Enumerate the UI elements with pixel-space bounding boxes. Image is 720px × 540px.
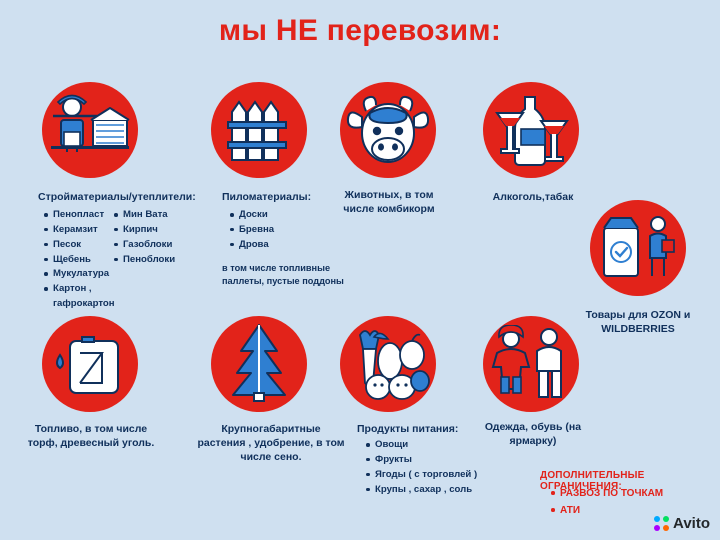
icon-circle-building-materials — [42, 82, 138, 178]
icon-circle-food — [340, 316, 436, 412]
icon-circle-plants — [211, 316, 307, 412]
list-item: Мин Вата — [112, 208, 202, 223]
list-item: Кирпич — [112, 223, 202, 238]
list-item: Фрукты — [364, 453, 514, 468]
icon-circle-clothes — [483, 316, 579, 412]
caption-plants: Крупногабаритные растения , удобрение, в… — [196, 422, 346, 465]
page-title: мы НЕ перевозим: — [0, 14, 720, 48]
icon-circle-animals — [340, 82, 436, 178]
list-item: Ягоды ( с торговлей ) — [364, 468, 514, 483]
icon-circle-lumber — [211, 82, 307, 178]
list-item: Картон , гафрокартон — [42, 282, 137, 312]
icon-circle-fuel — [42, 316, 138, 412]
list-building-materials-right: Мин Вата Кирпич Газоблоки Пеноблоки — [112, 208, 202, 267]
caption-building-materials: Стройматериалы/утеплители: — [38, 190, 218, 204]
caption-fuel: Топливо, в том числе торф, древесный уго… — [26, 422, 156, 450]
caption-clothes: Одежда, обувь (на ярмарку) — [470, 420, 596, 448]
builder-icon — [47, 90, 133, 170]
list-item: Дрова — [228, 238, 348, 253]
vegetables-icon — [344, 325, 432, 403]
caption-marketplace-goods: Товары для OZON и WILDBERRIES — [568, 308, 708, 336]
list-item: Бревна — [228, 223, 348, 238]
parcel-box-icon — [596, 210, 680, 286]
fir-tree-icon — [219, 323, 299, 405]
icon-circle-marketplace-goods — [590, 200, 686, 296]
list-item: Мукулатура — [42, 267, 137, 282]
icon-circle-alcohol — [483, 82, 579, 178]
bottle-glass-icon — [491, 91, 571, 169]
caption-animals: Животных, в том числе комбикорм — [328, 188, 450, 216]
additional-restrictions-list: РАЗВОЗ ПО ТОЧКАМ АТИ — [548, 485, 720, 519]
list-item: РАЗВОЗ ПО ТОЧКАМ — [548, 485, 720, 502]
list-item: Крупы , сахар , соль — [364, 483, 514, 498]
caption-alcohol: Алкоголь,табак — [473, 190, 593, 204]
avito-logo-icon — [654, 516, 669, 531]
jerrycan-icon — [50, 325, 130, 403]
avito-label: Avito — [673, 515, 710, 532]
note-lumber: в том числе топливные паллеты, пустые по… — [222, 262, 370, 288]
clothes-mannequin-icon — [489, 325, 573, 403]
cow-icon — [346, 93, 430, 167]
list-item: Газоблоки — [112, 238, 202, 253]
fence-icon — [224, 92, 294, 168]
list-item: Пеноблоки — [112, 253, 202, 268]
avito-watermark: Avito — [654, 515, 710, 532]
